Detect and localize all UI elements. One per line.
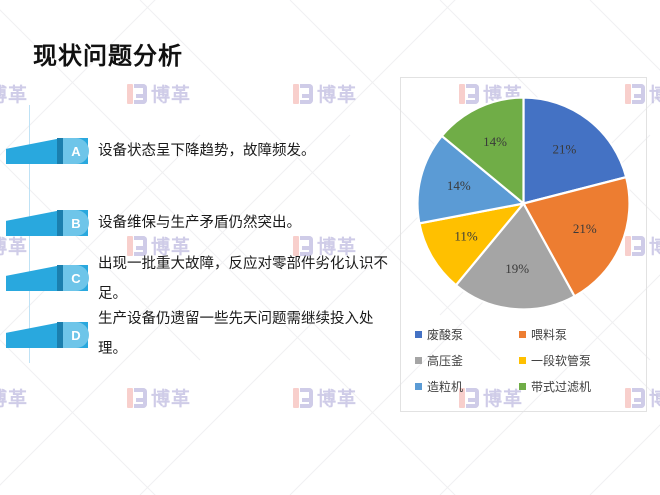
boge-logo-icon	[127, 388, 147, 408]
watermark-text: 博革	[0, 384, 28, 411]
watermark-stamp: 博革	[127, 384, 191, 411]
legend-item[interactable]: 废酸泵	[415, 326, 519, 343]
legend-label: 高压釜	[427, 352, 463, 369]
bullet-marker-badge: A	[63, 138, 89, 164]
watermark-text: 博革	[151, 384, 191, 411]
legend-swatch-icon	[415, 331, 422, 338]
pie-slice-label: 14%	[483, 134, 507, 149]
chart-container: 21%21%19%11%14%14% 废酸泵喂料泵高压釜一段软管泵造粒机带式过滤…	[400, 77, 647, 412]
watermark-text: 博革	[317, 384, 357, 411]
legend-label: 喂料泵	[531, 326, 567, 343]
bullet-marker-badge: D	[63, 322, 89, 348]
legend-label: 带式过滤机	[531, 378, 591, 395]
legend-item[interactable]: 喂料泵	[519, 326, 637, 343]
pie-slice-label: 19%	[505, 261, 529, 276]
pie-slice-label: 21%	[573, 221, 597, 236]
chart-legend: 废酸泵喂料泵高压釜一段软管泵造粒机带式过滤机	[415, 326, 637, 395]
bullet-text: 出现一批重大故障，反应对零部件劣化认识不足。	[98, 249, 394, 309]
legend-swatch-icon	[519, 357, 526, 364]
page-title: 现状问题分析	[33, 36, 183, 71]
legend-label: 一段软管泵	[531, 352, 591, 369]
pie-slice-label: 14%	[447, 178, 471, 193]
legend-swatch-icon	[415, 357, 422, 364]
legend-swatch-icon	[519, 383, 526, 390]
watermark-stamp: 博革	[293, 384, 357, 411]
boge-logo-icon	[293, 388, 313, 408]
watermark-stamp: 博革	[0, 384, 28, 411]
bullet-text: 设备状态呈下降趋势，故障频发。	[98, 136, 394, 166]
watermark-text: 博革	[649, 232, 660, 259]
legend-swatch-icon	[519, 331, 526, 338]
legend-label: 废酸泵	[427, 326, 463, 343]
bullet-text: 生产设备仍遗留一些先天问题需继续投入处理。	[98, 304, 394, 364]
bullet-list: A 设备状态呈下降趋势，故障频发。 B 设备维保与生产矛盾仍然突出。 C 出现一…	[0, 100, 400, 370]
watermark-text: 博革	[649, 384, 660, 411]
legend-item[interactable]: 带式过滤机	[519, 378, 637, 395]
pie-slice-label: 21%	[552, 142, 576, 157]
legend-item[interactable]: 高压釜	[415, 352, 519, 369]
legend-label: 造粒机	[427, 378, 463, 395]
legend-swatch-icon	[415, 383, 422, 390]
bullet-text: 设备维保与生产矛盾仍然突出。	[98, 208, 394, 238]
pie-chart-svg[interactable]: 21%21%19%11%14%14%	[416, 96, 631, 311]
bullet-marker-badge: C	[63, 265, 89, 291]
legend-item[interactable]: 造粒机	[415, 378, 519, 395]
watermark-text: 博革	[649, 80, 660, 107]
bullet-marker-badge: B	[63, 210, 89, 236]
pie-chart[interactable]: 21%21%19%11%14%14%	[401, 96, 646, 311]
legend-item[interactable]: 一段软管泵	[519, 352, 637, 369]
pie-slice-label: 11%	[454, 228, 478, 243]
